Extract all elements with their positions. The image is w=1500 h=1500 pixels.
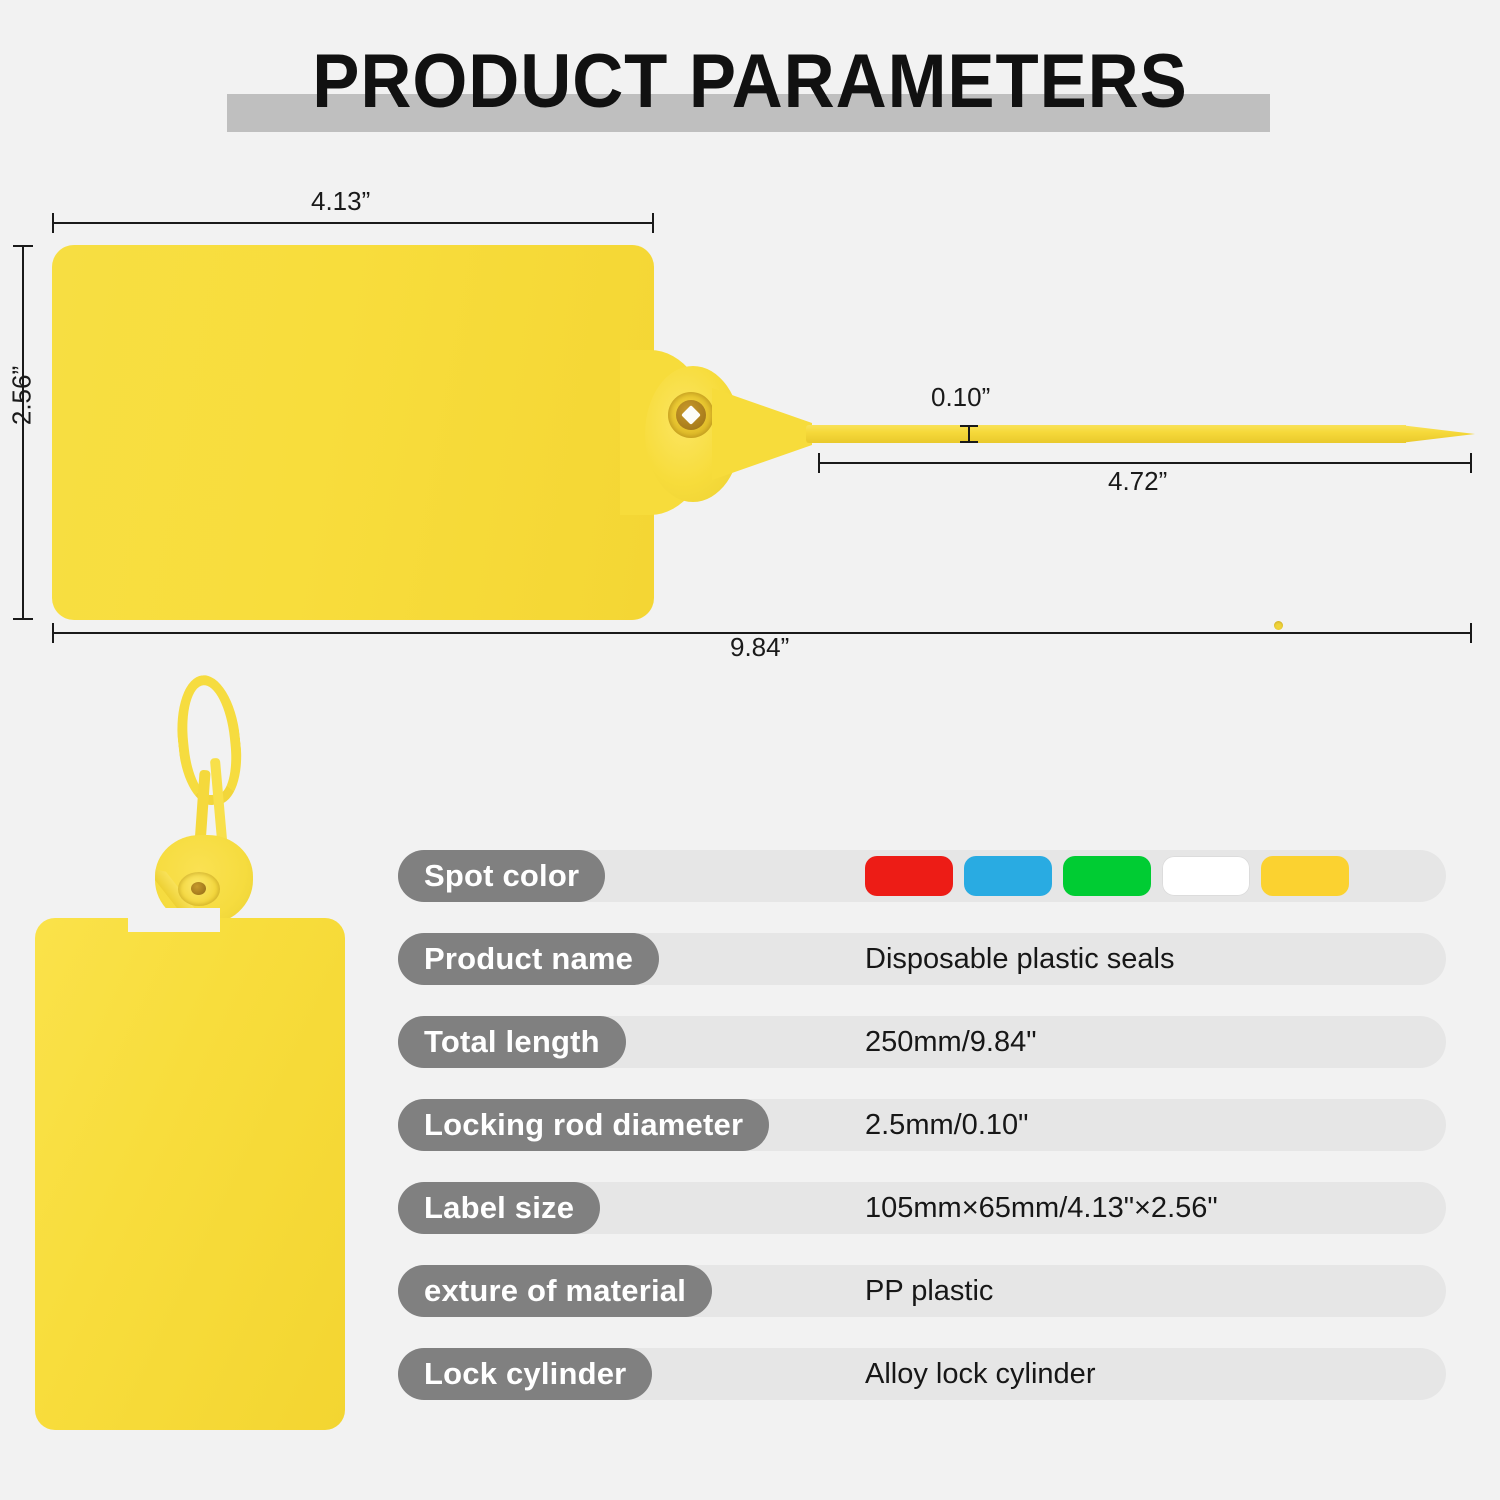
dimension-label-width: 4.13” bbox=[311, 186, 370, 217]
dimension-line-width bbox=[52, 222, 654, 224]
table-row: Locking rod diameter 2.5mm/0.10" bbox=[398, 1099, 1446, 1151]
spec-value-locking-rod-diameter: 2.5mm/0.10" bbox=[865, 1109, 1028, 1142]
dimension-label-total: 9.84” bbox=[730, 632, 789, 663]
spec-label-label-size: Label size bbox=[398, 1182, 600, 1234]
spec-label-texture-of-material: exture of material bbox=[398, 1265, 712, 1317]
spec-label-total-length: Total length bbox=[398, 1016, 626, 1068]
dimension-tick-height-top bbox=[13, 245, 33, 247]
table-row: Total length 250mm/9.84" bbox=[398, 1016, 1446, 1068]
spec-label-spot-color: Spot color bbox=[398, 850, 605, 902]
closed-seal-label-notch bbox=[128, 908, 220, 932]
table-row: Lock cylinder Alloy lock cylinder bbox=[398, 1348, 1446, 1400]
table-row: Label size 105mm×65mm/4.13"×2.56" bbox=[398, 1182, 1446, 1234]
closed-lock-cylinder-icon bbox=[191, 882, 206, 895]
dimension-tick-width-left bbox=[52, 213, 54, 233]
table-row: Product name Disposable plastic seals bbox=[398, 933, 1446, 985]
swatch-green[interactable] bbox=[1063, 856, 1151, 896]
product-dimension-diagram: 4.13” 2.56” 0.10” 4.72” 9.84” bbox=[0, 170, 1500, 680]
dimension-line-strap bbox=[818, 462, 1472, 464]
spec-label-lock-cylinder: Lock cylinder bbox=[398, 1348, 652, 1400]
page-header: PRODUCT PARAMETERS bbox=[0, 0, 1500, 170]
dimension-label-rod-diameter: 0.10” bbox=[931, 382, 990, 413]
spec-value-product-name: Disposable plastic seals bbox=[865, 943, 1174, 976]
seal-label-panel bbox=[52, 245, 654, 620]
spec-value-total-length: 250mm/9.84" bbox=[865, 1026, 1037, 1059]
product-parameters-table: Spot color Product name Disposable plast… bbox=[398, 850, 1446, 1431]
seal-strap-tip bbox=[1400, 425, 1475, 443]
seal-strap-neck bbox=[712, 388, 812, 480]
dimension-tick-total-right bbox=[1470, 623, 1472, 643]
swatch-blue[interactable] bbox=[964, 856, 1052, 896]
closed-seal-photo bbox=[0, 650, 400, 1450]
closed-seal-label-panel bbox=[35, 918, 345, 1430]
dimension-label-strap: 4.72” bbox=[1108, 466, 1167, 497]
page-title: PRODUCT PARAMETERS bbox=[53, 38, 1448, 125]
swatch-red[interactable] bbox=[865, 856, 953, 896]
dimension-tick-strap-right bbox=[1470, 453, 1472, 473]
lock-head-dimple bbox=[1274, 621, 1283, 630]
table-row: Spot color bbox=[398, 850, 1446, 902]
spec-label-locking-rod-diameter: Locking rod diameter bbox=[398, 1099, 769, 1151]
dimension-tick-height-bottom bbox=[13, 618, 33, 620]
dimension-label-height: 2.56” bbox=[7, 350, 38, 442]
table-row: exture of material PP plastic bbox=[398, 1265, 1446, 1317]
spec-label-product-name: Product name bbox=[398, 933, 659, 985]
dimension-tick-total-left bbox=[52, 623, 54, 643]
dimension-ibeam-marker bbox=[960, 425, 978, 443]
spec-value-label-size: 105mm×65mm/4.13"×2.56" bbox=[865, 1192, 1218, 1225]
spot-color-swatches bbox=[865, 856, 1349, 896]
swatch-yellow[interactable] bbox=[1261, 856, 1349, 896]
spec-value-texture-of-material: PP plastic bbox=[865, 1275, 993, 1308]
dimension-tick-strap-left bbox=[818, 453, 820, 473]
spec-value-lock-cylinder: Alloy lock cylinder bbox=[865, 1358, 1095, 1391]
swatch-white[interactable] bbox=[1162, 856, 1250, 896]
seal-locking-rod bbox=[806, 425, 1406, 443]
dimension-tick-width-right bbox=[652, 213, 654, 233]
